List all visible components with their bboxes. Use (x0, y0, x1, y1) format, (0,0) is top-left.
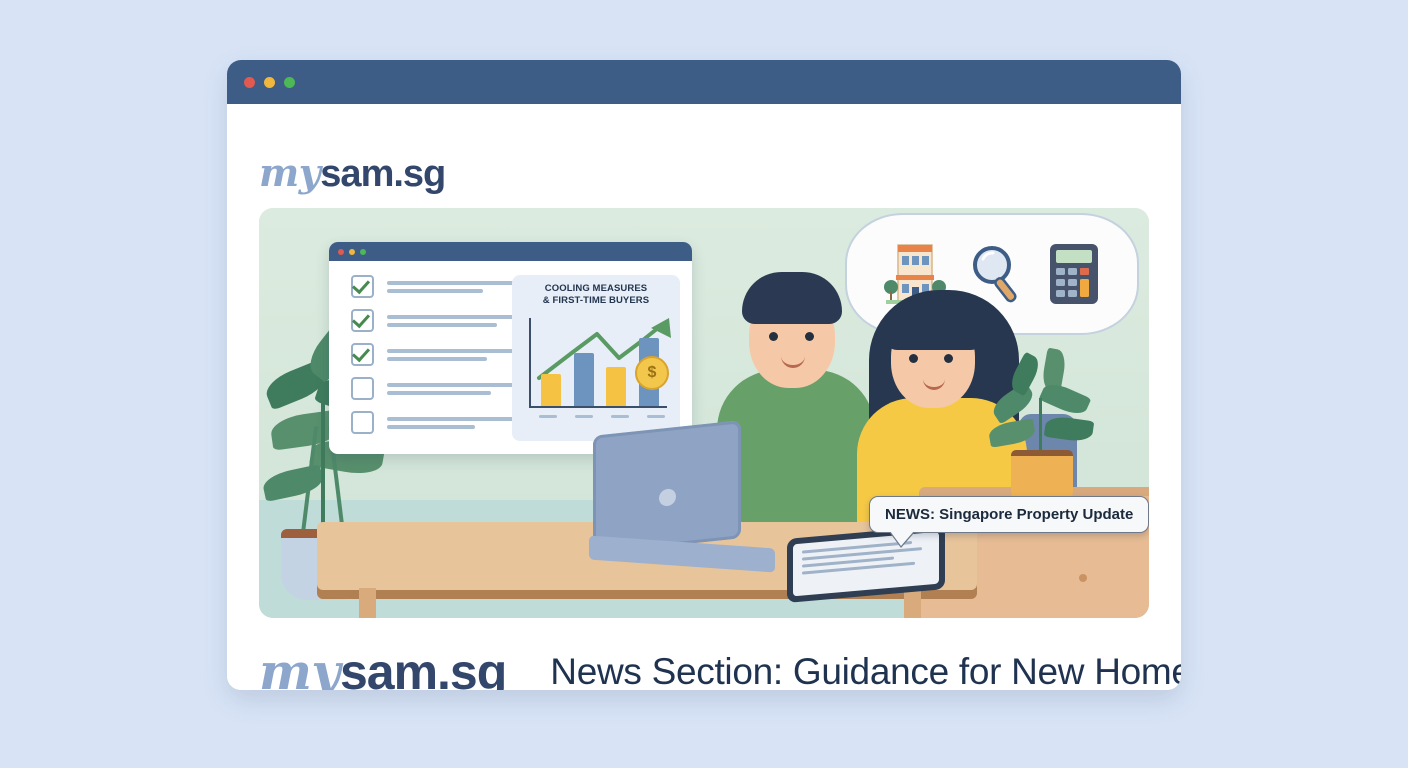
chart-x-axis (529, 406, 667, 408)
chart-x-tick (647, 415, 665, 418)
brand-prefix: my (259, 150, 320, 195)
tablet-screen (793, 532, 939, 597)
browser-window: mysam.sg (227, 60, 1181, 690)
checkbox-unchecked[interactable] (351, 377, 374, 400)
maximize-button[interactable] (284, 77, 295, 88)
mock-browser-titlebar (329, 242, 692, 261)
man-hair (742, 272, 842, 324)
chart-bar (541, 374, 561, 407)
header-brand-logo[interactable]: mysam.sg (259, 150, 445, 196)
checkbox-unchecked[interactable] (351, 411, 374, 434)
chart-title: COOLING MEASURES & FIRST-TIME BUYERS (521, 283, 671, 307)
brand-name: sam.sg (320, 153, 445, 196)
minimize-button[interactable] (264, 77, 275, 88)
checklist-text (387, 281, 519, 293)
footer-brand-logo[interactable]: mysam.sg (259, 642, 506, 690)
hero-illustration: COOLING MEASURES & FIRST-TIME BUYERS (259, 208, 1149, 618)
checkbox-checked[interactable] (351, 343, 374, 366)
chart-title-line-1: COOLING MEASURES (521, 283, 671, 295)
window-titlebar[interactable] (227, 60, 1181, 104)
brand-prefix: my (259, 642, 340, 690)
plant-right (989, 358, 1095, 508)
drawer-knob (1079, 574, 1087, 582)
chart-bar (606, 367, 626, 407)
chart-x-tick (575, 415, 593, 418)
news-callout[interactable]: NEWS: Singapore Property Update (869, 496, 1149, 533)
chart-bar (574, 353, 594, 406)
calculator-icon (1047, 241, 1101, 307)
chart-card: COOLING MEASURES & FIRST-TIME BUYERS (512, 275, 680, 441)
mock-browser-body: COOLING MEASURES & FIRST-TIME BUYERS (329, 261, 692, 454)
checkbox-checked[interactable] (351, 309, 374, 332)
checklist-text (387, 417, 519, 429)
close-button[interactable] (244, 77, 255, 88)
window-content: mysam.sg (227, 104, 1181, 690)
chart-plot-area: $ (521, 316, 671, 424)
chart-x-tick (611, 415, 629, 418)
laptop-screen (593, 420, 741, 554)
mock-browser-window: COOLING MEASURES & FIRST-TIME BUYERS (329, 242, 692, 454)
desk-leg (904, 588, 921, 618)
checkbox-checked[interactable] (351, 275, 374, 298)
footer: mysam.sg News Section: Guidance for New … (259, 642, 1149, 690)
mock-close-dot (338, 249, 344, 255)
page-title: News Section: Guidance for New Homeowner… (550, 651, 1181, 691)
checklist-text (387, 383, 519, 395)
desk-leg (359, 588, 376, 618)
mock-minimize-dot (349, 249, 355, 255)
woman-hair-top (883, 294, 985, 350)
chart-title-line-2: & FIRST-TIME BUYERS (521, 295, 671, 307)
page-root: mysam.sg (0, 0, 1408, 768)
checklist-text (387, 315, 519, 327)
mock-maximize-dot (360, 249, 366, 255)
checklist-text (387, 349, 519, 361)
laptop-logo-icon (659, 488, 676, 507)
chart-x-tick (539, 415, 557, 418)
brand-name: sam.sg (340, 643, 506, 690)
